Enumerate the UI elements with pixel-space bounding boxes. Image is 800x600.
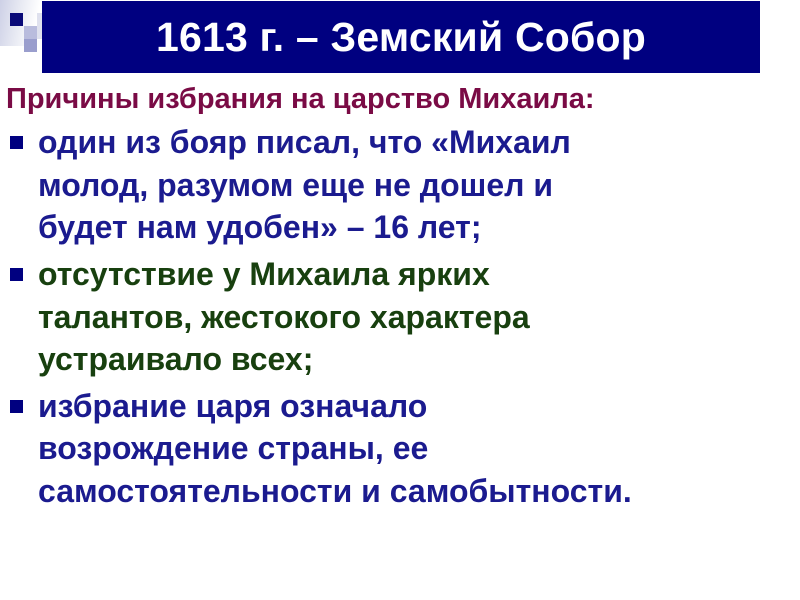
decorative-square-light — [24, 39, 37, 52]
slide-title-bar: 1613 г. – Земский Собор — [42, 1, 760, 73]
bullet-text: один из бояр писал, что «Михаил молод, р… — [38, 121, 800, 249]
bullet-text: отсутствие у Михаила ярких талантов, жес… — [38, 253, 800, 381]
decorative-square-dark — [10, 13, 23, 26]
square-bullet-icon — [10, 136, 23, 149]
bullet-line: молод, разумом еще не дошел и — [38, 164, 800, 207]
decorative-gradient-panel — [0, 0, 40, 46]
presentation-slide: 1613 г. – Земский Собор Причины избрания… — [0, 0, 800, 600]
list-item: отсутствие у Михаила ярких талантов, жес… — [0, 253, 800, 381]
square-bullet-icon — [10, 268, 23, 281]
bullet-line: один из бояр писал, что «Михаил — [38, 121, 800, 164]
bullet-line: избрание царя означало — [38, 385, 800, 428]
square-bullet-icon — [10, 400, 23, 413]
decorative-corner-squares — [0, 0, 44, 60]
bullet-line: устраивало всех; — [38, 338, 800, 381]
bullet-line: самостоятельности и самобытности. — [38, 470, 800, 513]
bullet-list: один из бояр писал, что «Михаил молод, р… — [0, 121, 800, 512]
bullet-line: возрождение страны, ее — [38, 427, 800, 470]
bullet-text: избрание царя означало возрождение стран… — [38, 385, 800, 513]
slide-subtitle: Причины избрания на царство Михаила: — [0, 84, 800, 117]
bullet-line: будет нам удобен» – 16 лет; — [38, 206, 800, 249]
slide-body: Причины избрания на царство Михаила: оди… — [0, 84, 800, 512]
list-item: избрание царя означало возрождение стран… — [0, 385, 800, 513]
slide-title: 1613 г. – Земский Собор — [156, 17, 646, 58]
bullet-line: отсутствие у Михаила ярких — [38, 253, 800, 296]
list-item: один из бояр писал, что «Михаил молод, р… — [0, 121, 800, 249]
decorative-square-mid — [24, 26, 37, 39]
bullet-line: талантов, жестокого характера — [38, 296, 800, 339]
